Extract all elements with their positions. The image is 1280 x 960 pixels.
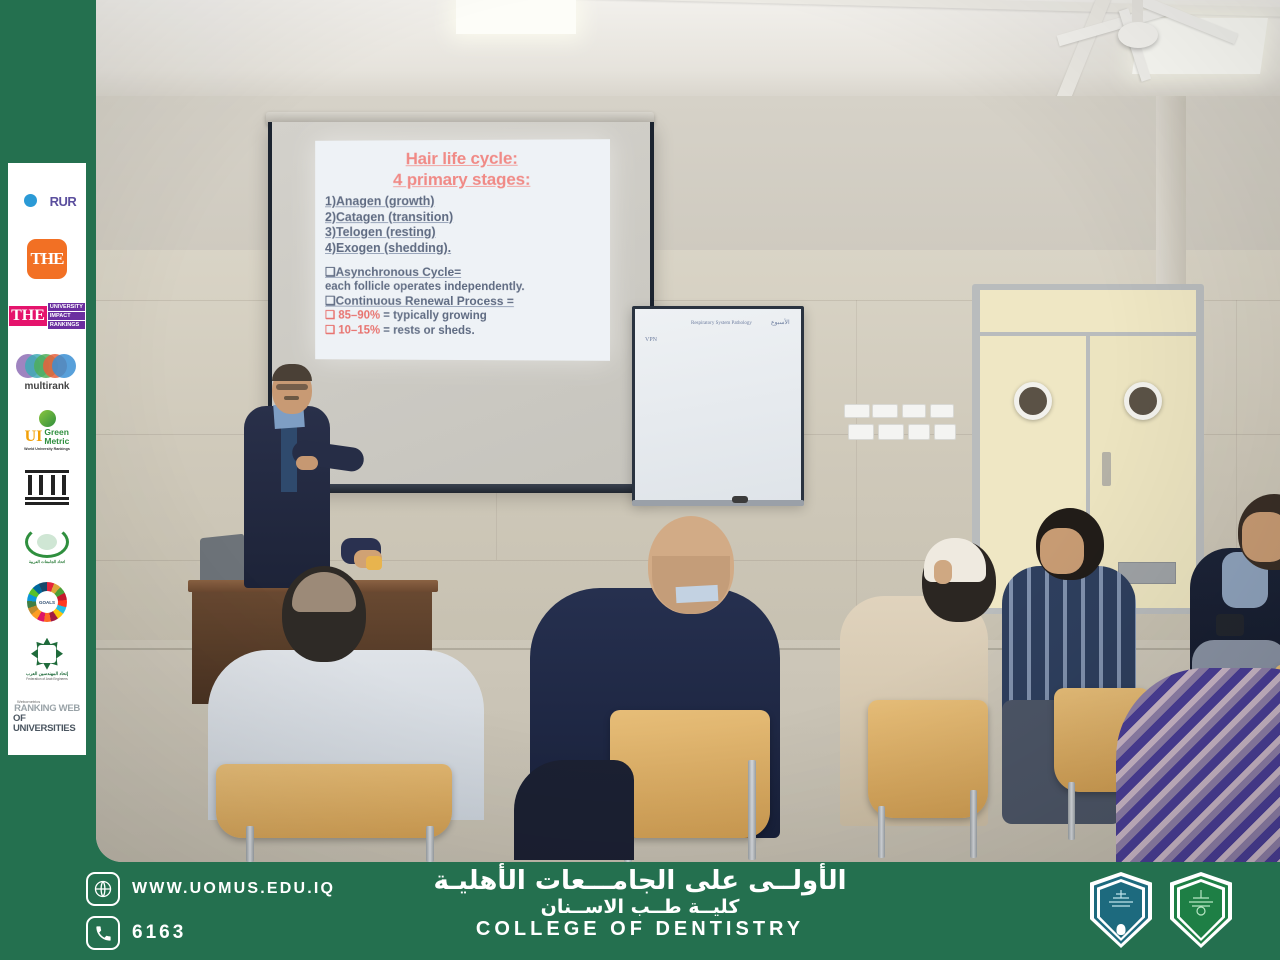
- slide-item-4: 4)Exogen (shedding).: [325, 240, 600, 256]
- light-switch-plate[interactable]: [930, 404, 954, 418]
- rankings-logo-strip: RUR THE THE UNIVERSITY IMPACT RANKINGS m…: [8, 163, 86, 755]
- federation-arab-engineers-logo: إتحاد المهندسين العرب Federation of Arab…: [13, 631, 81, 688]
- whiteboard-marker: [732, 496, 748, 503]
- slide-title-line1: Hair life cycle:: [325, 147, 600, 169]
- college-of-dentistry-crest: [1090, 872, 1152, 948]
- presenter-moustache: [284, 396, 299, 400]
- university-crest: [1170, 872, 1232, 948]
- arab-universities-logo: اتحاد الجامعات العربية: [13, 516, 81, 573]
- presentation-slide: Hair life cycle: 4 primary stages: 1)Ana…: [315, 139, 610, 361]
- arab-universities-caption: اتحاد الجامعات العربية: [29, 559, 65, 564]
- whiteboard: Respiratory System Pathology VPN اﻷسبوع: [632, 306, 804, 504]
- slide-bullet-1: ❑Asynchronous Cycle=: [325, 265, 600, 280]
- chair-leg: [970, 790, 977, 858]
- door-porthole-right: [1124, 382, 1162, 420]
- the-impact-line1: UNIVERSITY: [48, 303, 85, 311]
- unesco-temple-logo: [13, 459, 81, 516]
- rur-arc-icon: [18, 189, 48, 215]
- greenmetric-line2: Metric: [44, 437, 69, 446]
- whiteboard-marker-tray: [632, 500, 804, 506]
- slide-bullet-1-detail: each follicle operates independently.: [325, 280, 600, 295]
- chair-back: [610, 710, 770, 838]
- temple-icon: [25, 470, 69, 505]
- the-impact-label: THE: [9, 306, 47, 326]
- fae-caption-en: Federation of Arab Engineers: [26, 677, 67, 681]
- sdg-core-text: GOALS: [39, 600, 55, 605]
- chair-leg: [246, 826, 254, 862]
- power-socket-plate[interactable]: [908, 424, 930, 440]
- footer-arabic-tagline: الأولــى على الجامـــعات الأهليـة: [0, 866, 1280, 896]
- door-handle[interactable]: [1102, 452, 1111, 486]
- attendee-navy-suit-collar: [676, 585, 719, 603]
- ceiling-light-panel: [456, 0, 576, 34]
- the-impact-logo: THE UNIVERSITY IMPACT RANKINGS: [13, 287, 81, 344]
- slide-stat-2-value: ❑ 10–15%: [325, 324, 380, 336]
- slide-item-1: 1)Anagen (growth): [325, 194, 600, 210]
- the-impact-line3: RANKINGS: [48, 321, 85, 329]
- webometrics-logo: Webometrics RANKING WEB OF UNIVERSITIES: [13, 688, 81, 745]
- multirank-logo: multirank: [13, 345, 81, 402]
- whiteboard-note-1: Respiratory System Pathology: [691, 321, 752, 326]
- multirank-label: multirank: [24, 381, 69, 392]
- lecture-photo: Hair life cycle: 4 primary stages: 1)Ana…: [96, 0, 1280, 862]
- slide-item-3: 3)Telogen (resting): [325, 225, 600, 241]
- light-switch-plate[interactable]: [844, 404, 870, 418]
- slide-stat-1-value: ❑ 85–90%: [325, 310, 380, 322]
- attendee-face: [934, 560, 952, 584]
- fan-hub: [1118, 22, 1158, 48]
- slide-item-2: 2)Catagen (transition): [325, 209, 600, 225]
- attendee-dark-foreground: [514, 760, 634, 860]
- chair-leg: [878, 806, 885, 858]
- attendee-plaid-face: [1040, 528, 1084, 574]
- presenter-marker: [366, 556, 382, 570]
- slide-stat-2-label: = rests or sheds.: [383, 324, 474, 336]
- greenmetric-sub: World University Rankings: [24, 447, 70, 451]
- door-transom: [980, 290, 1196, 332]
- presenter-hand: [296, 456, 318, 470]
- power-socket-plate[interactable]: [878, 424, 904, 440]
- presenter-glasses: [276, 384, 308, 390]
- footer-english-college: COLLEGE OF DENTISTRY: [0, 918, 1280, 941]
- webometrics-line2: OF UNIVERSITIES: [13, 714, 81, 734]
- tooth-icon: [1117, 924, 1126, 935]
- light-switch-plate[interactable]: [872, 404, 898, 418]
- wall-seam: [856, 300, 857, 648]
- sdg-wheel-logo: GOALS: [13, 573, 81, 630]
- chair-leg: [1068, 782, 1075, 840]
- sdg-wheel-icon: GOALS: [27, 582, 67, 622]
- wall-column: [1156, 96, 1186, 306]
- power-socket-plate[interactable]: [934, 424, 956, 440]
- greenmetric-ui-label: UI: [25, 428, 43, 446]
- chair-leg: [426, 826, 434, 862]
- the-label: THE: [31, 249, 64, 269]
- ui-greenmetric-logo: UI Green Metric World University Ranking…: [13, 402, 81, 459]
- attendee-phone: [1216, 614, 1244, 636]
- door-porthole-left: [1014, 382, 1052, 420]
- attendee-patterned-hijab: [1116, 668, 1280, 862]
- whiteboard-note-2: VPN: [645, 337, 657, 343]
- chair-leg: [748, 760, 756, 860]
- light-switch-plate[interactable]: [902, 404, 926, 418]
- the-impact-line2: IMPACT: [48, 312, 85, 320]
- whiteboard-note-arabic: اﻷسبوع: [771, 319, 790, 326]
- slide-bullet-2: ❑Continuous Renewal Process =: [325, 294, 600, 310]
- power-socket-plate[interactable]: [848, 424, 874, 440]
- footer-arabic-college: كليــة طــب الاســنان: [0, 896, 1280, 918]
- green-globe-icon: [39, 410, 56, 427]
- slide-stat-1-label: = typically growing: [383, 310, 487, 322]
- star-emblem-icon: [31, 638, 63, 670]
- footer-bar: WWW.UOMUS.EDU.IQ 6163 الأولــى على الجام…: [0, 860, 1280, 960]
- wreath-icon: [25, 526, 69, 558]
- attendee-polo-face: [1242, 512, 1280, 562]
- fan-downrod: [1132, 0, 1143, 22]
- rur-label: RUR: [50, 194, 77, 209]
- rur-logo: RUR: [13, 173, 81, 230]
- multirank-circles-icon: [16, 354, 78, 380]
- slide-title-line2: 4 primary stages:: [325, 168, 600, 190]
- the-logo: THE: [13, 230, 81, 287]
